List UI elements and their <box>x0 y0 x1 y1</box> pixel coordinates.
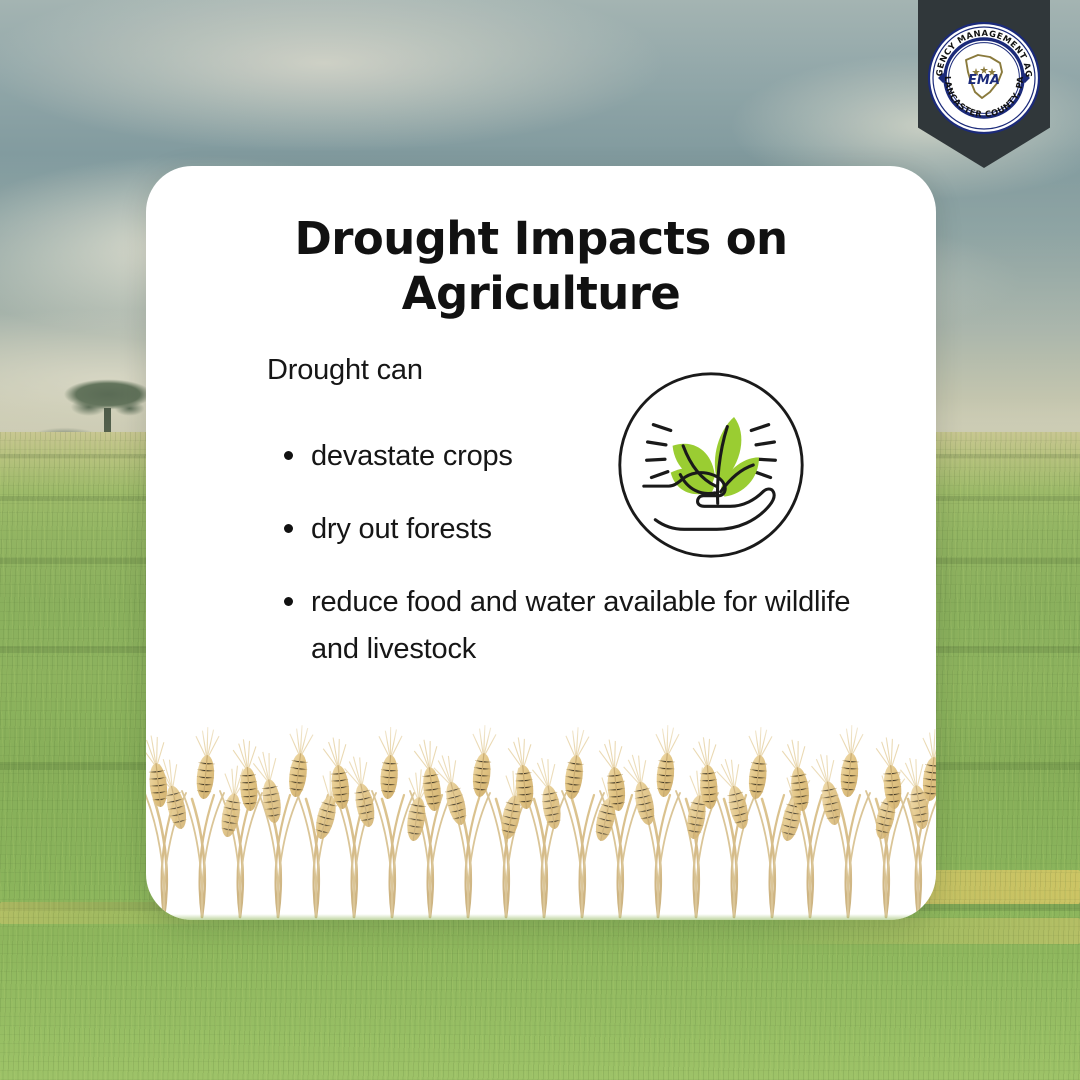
content-card: Drought Impacts on Agriculture Drought c… <box>146 166 936 920</box>
card-grass-sliver <box>146 914 936 920</box>
list-item: reduce food and water available for wild… <box>267 579 856 673</box>
wheat-border-decoration <box>146 705 936 920</box>
page-title: Drought Impacts on Agriculture <box>146 166 936 322</box>
card-body: Drought can devastate crops dry out fore… <box>146 322 936 674</box>
ema-seal-logo[interactable]: EMA EMERGENCY MANAGEMENT AGENCY LANCASTE… <box>928 22 1040 134</box>
seal-center-text: EMA <box>968 73 1000 88</box>
shine-lines-left <box>647 425 671 478</box>
poster-canvas: EMA EMERGENCY MANAGEMENT AGENCY LANCASTE… <box>0 0 1080 1080</box>
hand-holding-plant-icon <box>615 369 807 561</box>
